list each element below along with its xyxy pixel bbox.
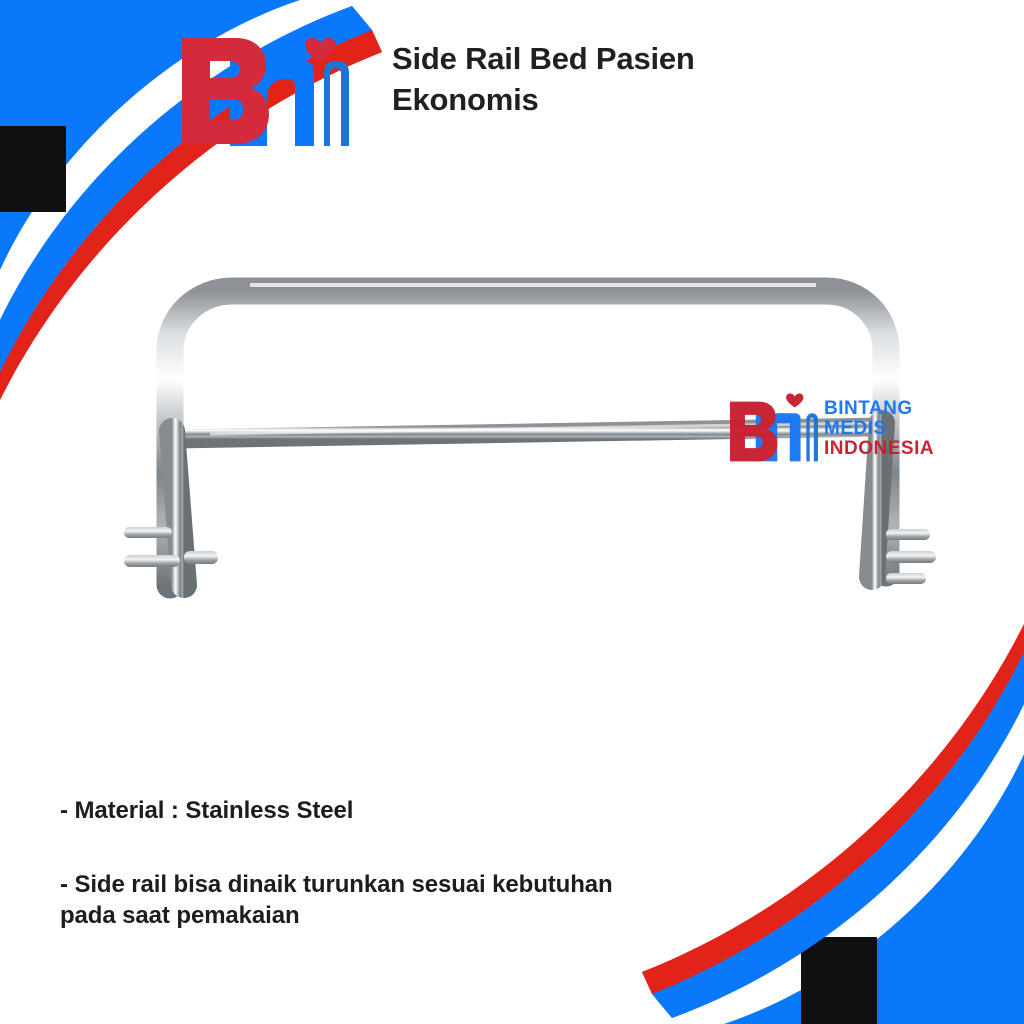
banner-header: Side Rail Bed Pasien Ekonomis (0, 0, 1024, 180)
spec-item-adjustable-line-1: - Side rail bisa dinaik turunkan sesuai … (60, 869, 820, 901)
watermark-letter-i (806, 413, 818, 461)
spec-item-material: - Material : Stainless Steel (60, 795, 820, 827)
logo-letter-i (324, 61, 349, 146)
black-square-bottom-right (801, 937, 877, 1024)
product-banner: Side Rail Bed Pasien Ekonomis (0, 0, 1024, 1024)
watermark-logo (728, 390, 820, 468)
logo-letter-b (182, 38, 269, 144)
watermark: BINTANG MEDIS INDONESIA (728, 388, 960, 470)
spec-item-adjustable-line-2: pada saat pemakaian (60, 900, 820, 932)
watermark-letter-b (730, 402, 777, 462)
page-title-line-2: Ekonomis (392, 79, 862, 120)
rail-right-bolts (886, 529, 936, 584)
watermark-line-3: INDONESIA (824, 439, 934, 459)
spec-item-adjustable: - Side rail bisa dinaik turunkan sesuai … (60, 869, 820, 932)
specification-list: - Material : Stainless Steel - Side rail… (60, 795, 820, 932)
watermark-line-1: BINTANG (824, 399, 934, 419)
page-title: Side Rail Bed Pasien Ekonomis (392, 38, 862, 120)
page-title-line-1: Side Rail Bed Pasien (392, 38, 862, 79)
watermark-line-2: MEDIS (824, 419, 934, 439)
watermark-text: BINTANG MEDIS INDONESIA (824, 399, 934, 459)
watermark-heart-icon (786, 393, 803, 407)
bmi-logo (170, 16, 360, 156)
heart-icon (305, 38, 336, 63)
